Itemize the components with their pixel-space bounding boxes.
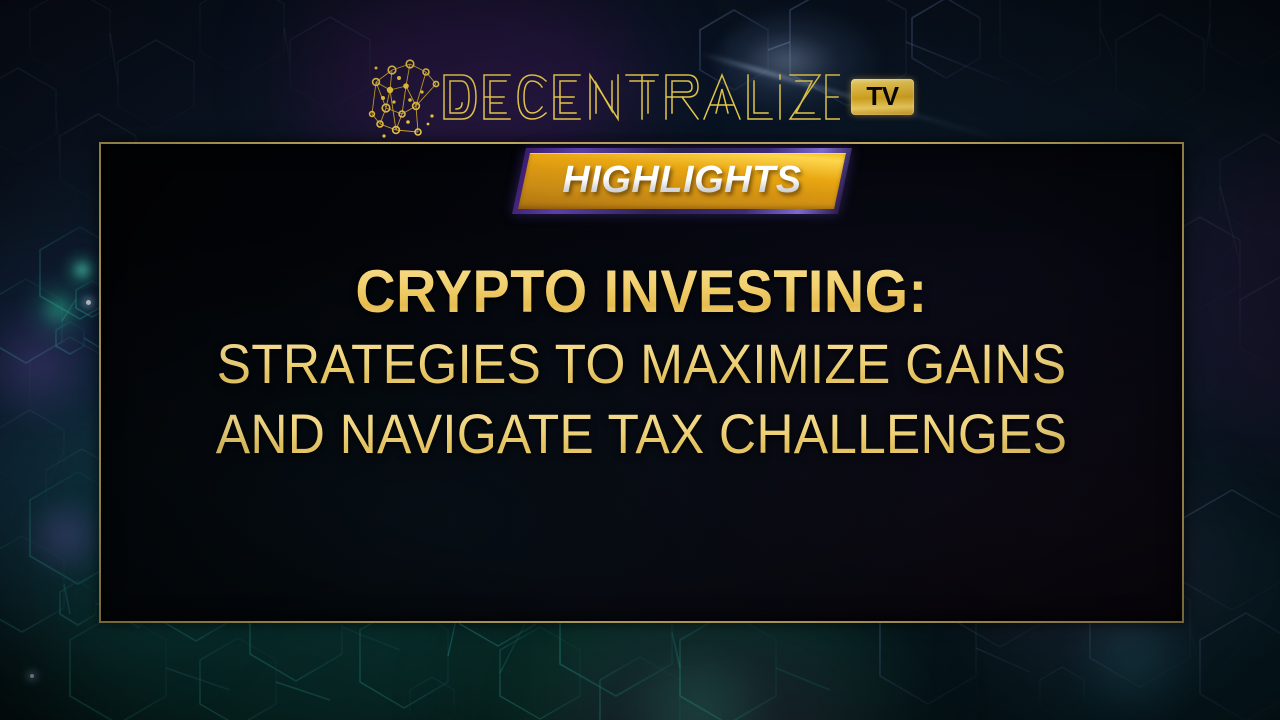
highlights-badge: HIGHLIGHTS [519, 148, 845, 214]
logo-wordmark [440, 69, 840, 125]
sparkle-dot [30, 674, 34, 678]
title-line-1: CRYPTO INVESTING: [137, 262, 1146, 322]
highlights-badge-label: HIGHLIGHTS [519, 147, 845, 213]
tv-badge: TV [851, 79, 914, 115]
video-title-block: CRYPTO INVESTING: STRATEGIES TO MAXIMIZE… [99, 262, 1184, 462]
sparkle-dot [86, 300, 91, 305]
video-thumbnail-canvas: TV HIGHLIGHTS CRYPTO INVESTING: STRATEGI… [0, 0, 1280, 720]
channel-logo[interactable]: TV [0, 66, 1280, 128]
network-nodes-icon [366, 56, 444, 140]
title-line-3: AND NAVIGATE TAX CHALLENGES [142, 406, 1140, 462]
tv-badge-label: TV [866, 83, 898, 109]
title-line-2: STRATEGIES TO MAXIMIZE GAINS [142, 336, 1140, 392]
